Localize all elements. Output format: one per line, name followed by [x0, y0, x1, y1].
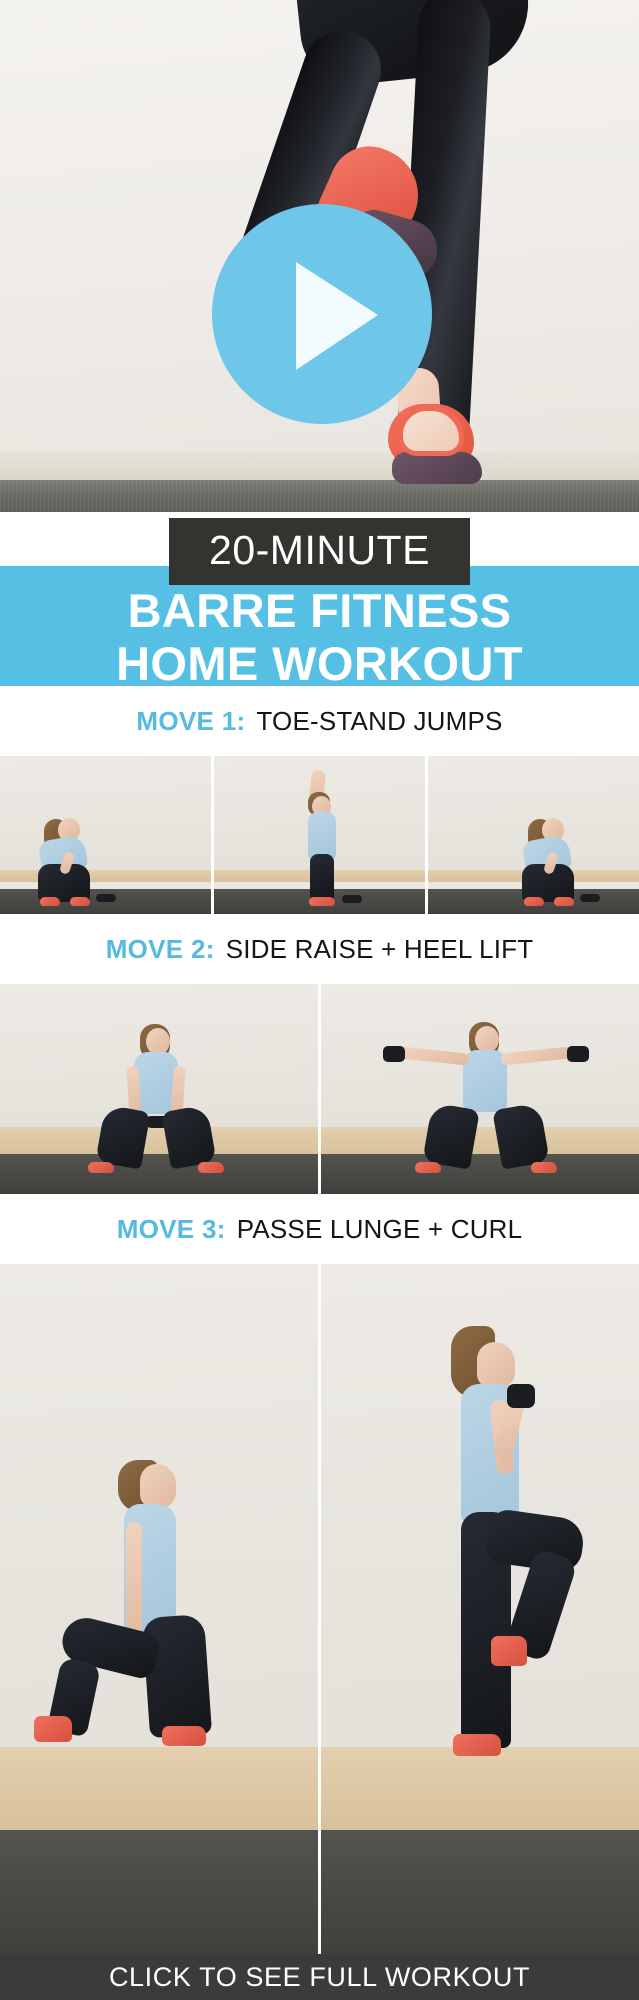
- panel-floor: [0, 1127, 318, 1154]
- figure-head: [475, 1026, 499, 1053]
- move-1-panel-2: [211, 756, 425, 914]
- panel-mat: [0, 1830, 318, 1954]
- move-label-1: MOVE 1: TOE-STAND JUMPS: [0, 686, 639, 756]
- move-label-2: MOVE 2: SIDE RAISE + HEEL LIFT: [0, 914, 639, 984]
- figure-shoe-passe: [491, 1636, 527, 1666]
- panel-mat: [321, 1830, 639, 1954]
- duration-badge: 20-MINUTE: [169, 518, 470, 585]
- move-1-panel-3: [425, 756, 639, 914]
- move-1-panel-1: [0, 756, 211, 914]
- move-name-1: TOE-STAND JUMPS: [256, 706, 502, 737]
- panel-floor: [0, 870, 211, 883]
- hero-photo: [0, 0, 639, 512]
- dumbbell-icon: [507, 1384, 535, 1408]
- figure-arm: [126, 1522, 142, 1642]
- panel-mat: [0, 1154, 318, 1194]
- panel-floor: [321, 1747, 639, 1830]
- dumbbell-icon: [580, 894, 600, 902]
- dumbbell-icon: [567, 1046, 589, 1062]
- play-icon: [212, 204, 432, 424]
- move-1-photo-strip: [0, 756, 639, 914]
- figure-head: [477, 1342, 515, 1388]
- hero-standing-sock-sole: [392, 452, 482, 484]
- move-number-1: MOVE 1:: [136, 706, 245, 737]
- move-2-panel-1: [0, 984, 318, 1194]
- figure-shoe: [415, 1162, 441, 1173]
- title-block: BARRE FITNESS HOME WORKOUT: [0, 586, 639, 690]
- figure-shoe: [531, 1162, 557, 1173]
- cta-label: CLICK TO SEE FULL WORKOUT: [109, 1962, 530, 1993]
- hero-yoga-mat: [0, 480, 639, 512]
- dumbbell-icon: [96, 894, 116, 902]
- title-line-2: HOME WORKOUT: [0, 639, 639, 690]
- move-3-panel-2: [318, 1264, 639, 1954]
- figure-shoe: [554, 897, 574, 906]
- panel-floor: [321, 1127, 639, 1154]
- figure-leggings: [310, 854, 334, 900]
- panel-floor: [0, 1747, 318, 1830]
- figure-shoe: [309, 897, 335, 906]
- move-name-3: PASSE LUNGE + CURL: [237, 1214, 523, 1245]
- figure-shoe-front: [162, 1726, 206, 1746]
- title-line-1: BARRE FITNESS: [0, 586, 639, 637]
- figure-front-leg: [142, 1614, 212, 1738]
- move-number-3: MOVE 3:: [117, 1214, 226, 1245]
- figure-shoe: [40, 897, 60, 906]
- move-2-panel-2: [318, 984, 639, 1194]
- figure-shoe: [198, 1162, 224, 1173]
- figure-head: [146, 1028, 170, 1055]
- hero-baseboard: [0, 452, 639, 480]
- dumbbell-icon: [383, 1046, 405, 1062]
- cta-bar[interactable]: CLICK TO SEE FULL WORKOUT: [0, 1954, 639, 2000]
- move-label-3: MOVE 3: PASSE LUNGE + CURL: [0, 1194, 639, 1264]
- figure-shoe: [88, 1162, 114, 1173]
- figure-shoe-back: [34, 1716, 72, 1742]
- move-3-panel-1: [0, 1264, 318, 1954]
- figure-tank-top: [308, 812, 336, 860]
- figure-shoe-standing: [453, 1734, 501, 1756]
- play-button[interactable]: [212, 204, 432, 424]
- figure-head: [140, 1464, 176, 1508]
- panel-mat: [321, 1154, 639, 1194]
- figure-shoe: [524, 897, 544, 906]
- move-2-photo-strip: [0, 984, 639, 1194]
- figure-shoe: [70, 897, 90, 906]
- panel-wall: [0, 756, 211, 870]
- pinterest-workout-graphic: 20-MINUTE BARRE FITNESS HOME WORKOUT MOV…: [0, 0, 639, 2000]
- move-3-photo-strip: [0, 1264, 639, 1954]
- dumbbell-icon: [342, 895, 362, 903]
- move-number-2: MOVE 2:: [106, 934, 215, 965]
- move-name-2: SIDE RAISE + HEEL LIFT: [226, 934, 534, 965]
